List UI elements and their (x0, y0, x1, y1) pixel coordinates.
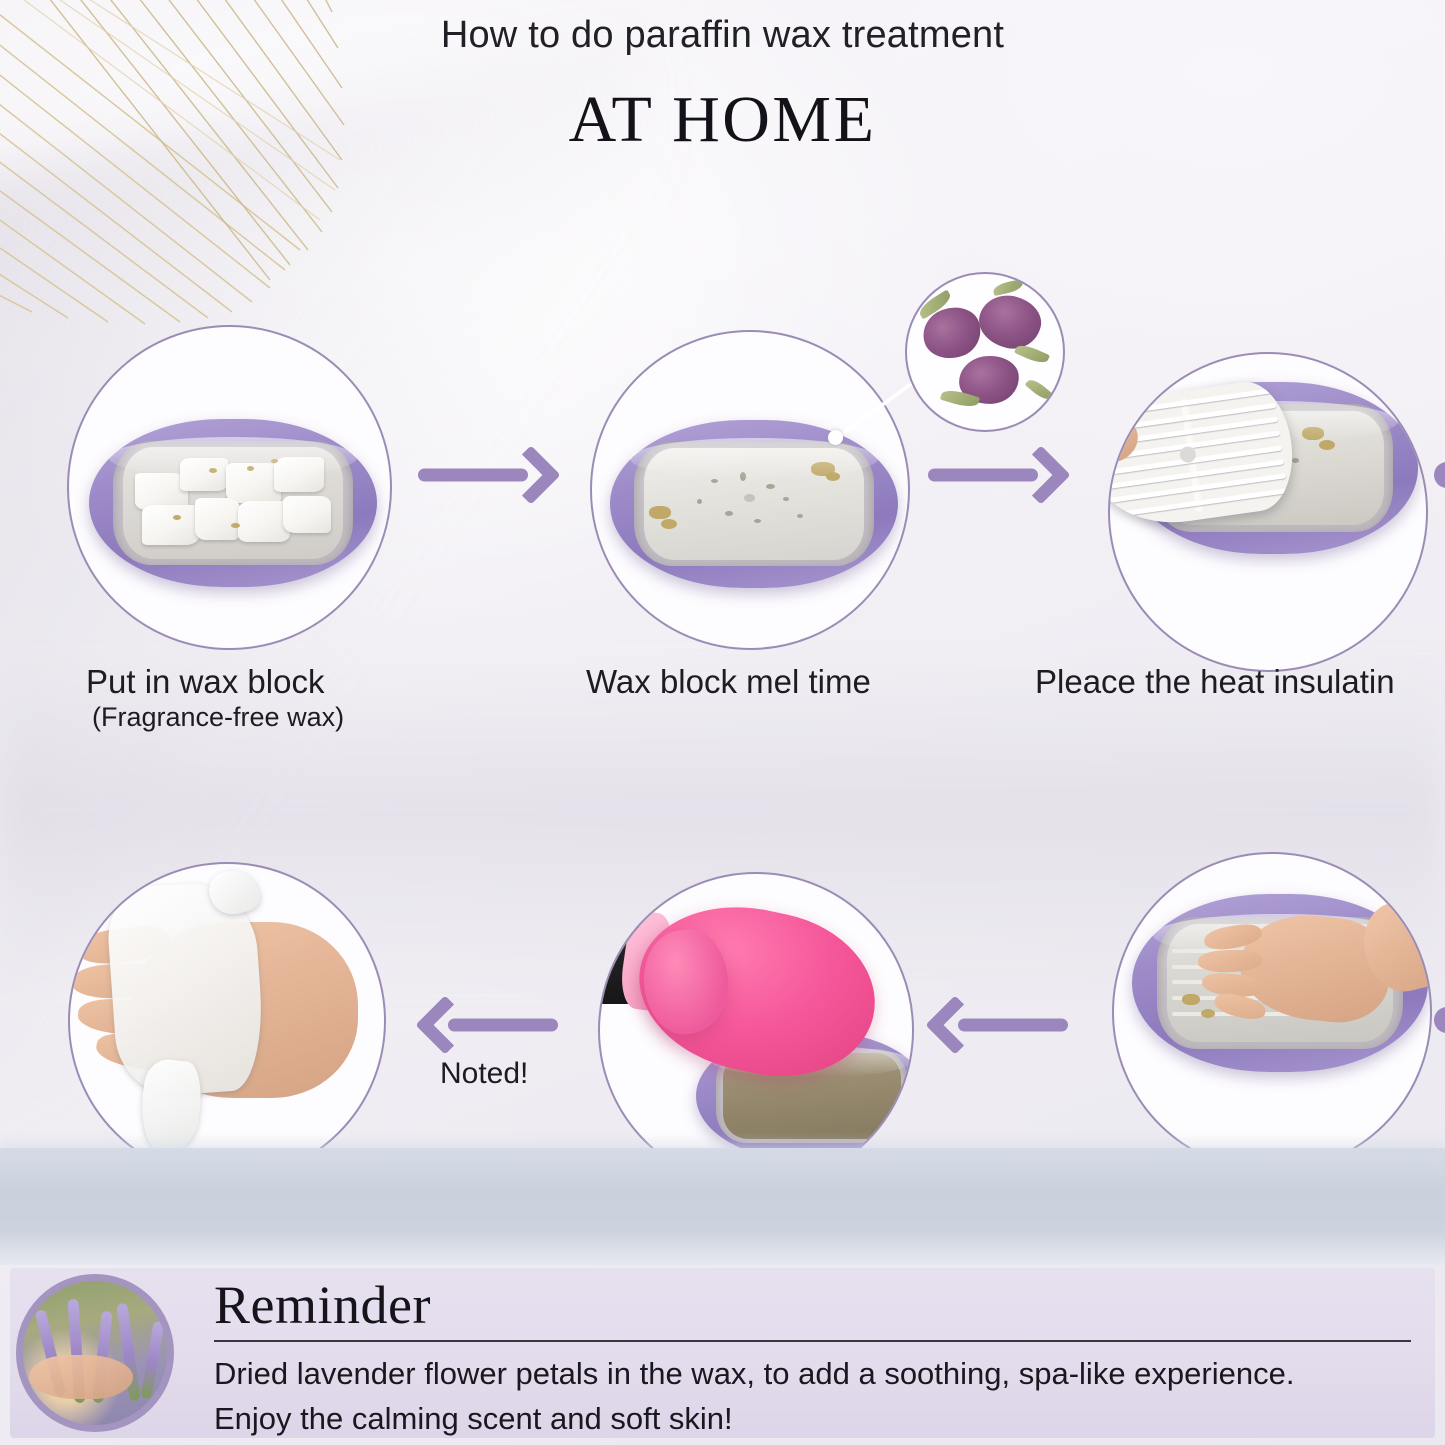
step-3-caption: Pleace the heat insulatin (1035, 663, 1395, 701)
arrow-step5-to-step6 (418, 995, 558, 1055)
dried-flower-inset (905, 272, 1065, 432)
lavender-field-photo (16, 1274, 174, 1432)
step-4-image (1112, 852, 1432, 1172)
arrow-step4-to-step5 (928, 995, 1068, 1055)
page-subtitle: How to do paraffin wax treatment (0, 14, 1445, 57)
arrow-into-step4-edge (1434, 1007, 1445, 1033)
reminder-bar: Reminder Dried lavender flower petals in… (10, 1268, 1435, 1438)
step-1-image (67, 325, 392, 650)
shelf-surface (0, 1148, 1445, 1265)
reminder-body: Dried lavender flower petals in the wax,… (214, 1352, 1375, 1442)
wax-bath-tub-melted (610, 420, 898, 588)
step-1-caption: Put in wax block (86, 663, 324, 701)
reminder-divider (214, 1340, 1411, 1342)
step-2-caption: Wax block mel time (586, 663, 871, 701)
noted-annotation: Noted! (440, 1057, 528, 1091)
step-2-image (590, 330, 910, 650)
arrow-step1-to-step2 (418, 445, 558, 505)
arrow-step3-to-step4-edge (1434, 462, 1445, 488)
step-6-image (68, 862, 386, 1180)
arrow-step2-to-step3 (928, 445, 1068, 505)
callout-dot (828, 430, 843, 445)
hand-in-lavender (29, 1355, 133, 1399)
page-title: AT HOME (0, 82, 1445, 158)
step-3-image (1108, 352, 1428, 672)
wax-bath-tub (89, 419, 377, 587)
reminder-title: Reminder (214, 1274, 431, 1336)
step-1-subcaption: (Fragrance-free wax) (92, 702, 344, 733)
wax-bath-basin (113, 441, 352, 565)
wax-bath-basin-melted (634, 442, 873, 566)
infographic-page: How to do paraffin wax treatment AT HOME (0, 0, 1445, 1445)
